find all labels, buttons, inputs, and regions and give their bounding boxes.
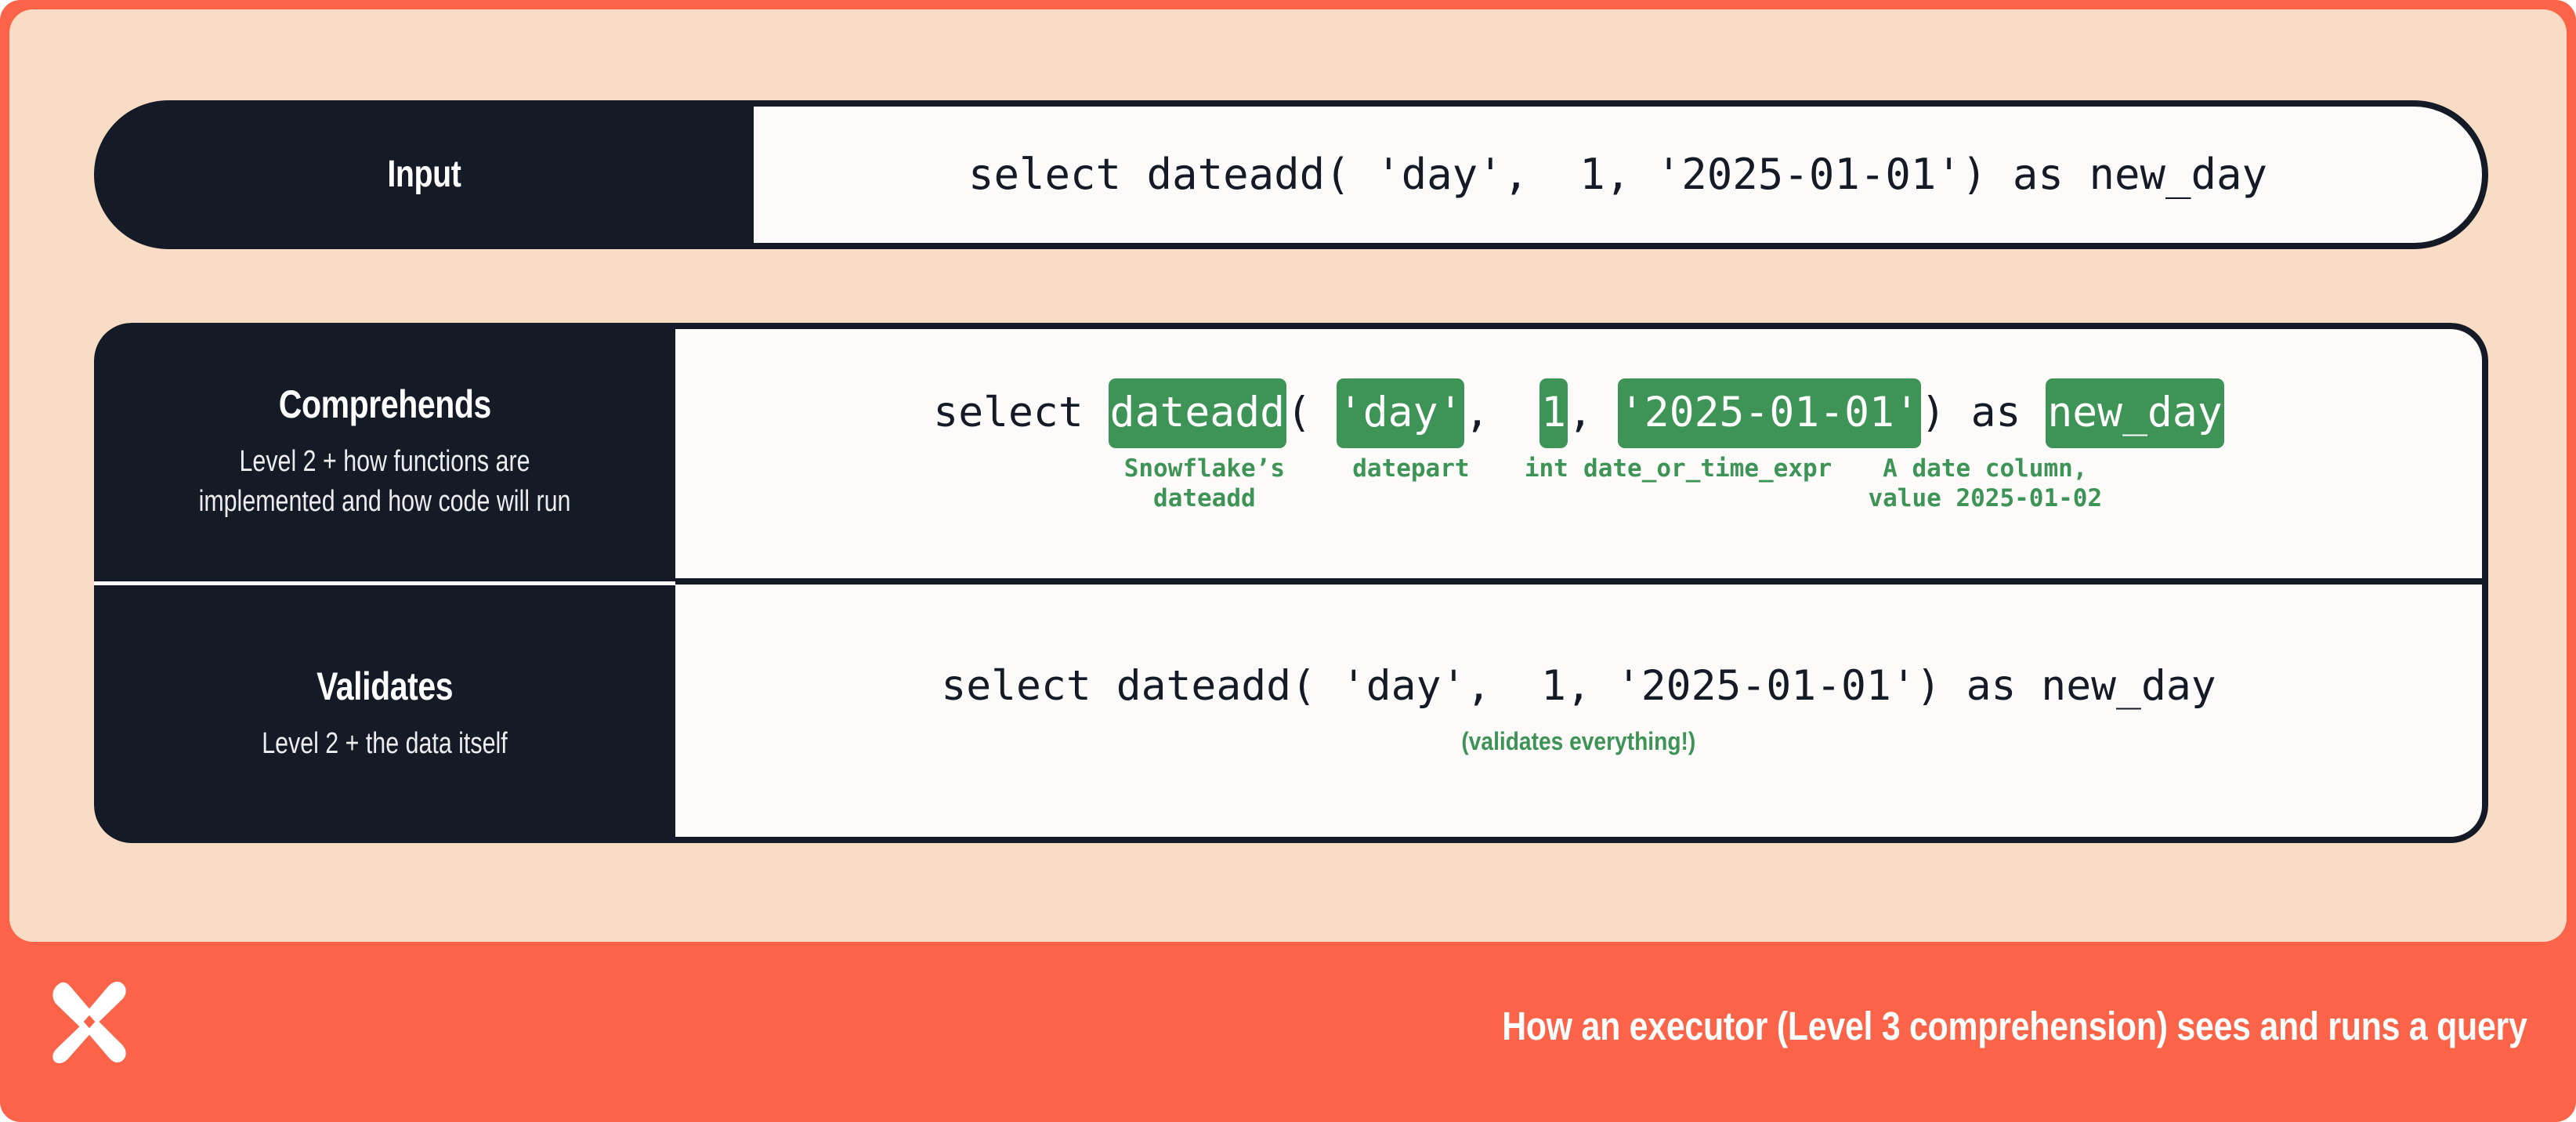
input-card: Input select dateadd( 'day', 1, '2025-01… [94,100,2488,249]
input-code-text: select dateadd( 'day', 1, '2025-01-01') … [968,154,2267,196]
comprehends-code-text: select dateadd( 'day', 1, '2025-01-01') … [933,392,2223,433]
comprehends-row-title: Comprehends [278,383,490,426]
code-token: ) as [1921,389,2046,436]
code-annotation: int [1525,454,1568,484]
poster-frame: Input select dateadd( 'day', 1, '2025-01… [0,0,2576,1122]
butterfly-x-logo-icon [49,979,130,1064]
comprehends-annotations: Snowflake’s dateadddatepartintdate_or_ti… [934,454,2224,516]
code-token: , [1568,389,1618,436]
validates-row-title: Validates [317,665,453,708]
code-token-highlighted: dateadd [1109,378,1286,448]
validates-row-subtitle: Level 2 + the data itself [262,724,508,763]
validates-label-cell: Validates Level 2 + the data itself [94,581,675,843]
comprehends-label-cell: Comprehends Level 2 + how functions are … [94,323,675,581]
code-token: select [933,389,1108,436]
code-annotation: A date column, value 2025-01-02 [1868,454,2102,515]
code-annotation: date_or_time_expr [1583,454,1832,484]
code-token-highlighted: 1 [1539,378,1568,448]
validates-note: (validates everything!) [1462,727,1696,756]
input-row-title: Input [387,154,461,196]
code-token-highlighted: 'day' [1337,378,1465,448]
code-annotation: datepart [1352,454,1469,484]
code-token-highlighted: new_day [2046,378,2223,448]
code-token-highlighted: '2025-01-01' [1618,378,1921,448]
comprehends-code-cell: select dateadd( 'day', 1, '2025-01-01') … [675,323,2488,581]
levels-card: Comprehends Level 2 + how functions are … [94,323,2488,843]
content-stage: Input select dateadd( 'day', 1, '2025-01… [9,9,2567,942]
comprehends-row-subtitle: Level 2 + how functions are implemented … [171,442,599,520]
footer-caption: How an executor (Level 3 comprehension) … [1503,1003,2527,1049]
input-label-cell: Input [94,100,754,249]
code-token: ( [1286,389,1337,436]
validates-row: Validates Level 2 + the data itself sele… [94,581,2488,843]
code-token: , [1464,389,1539,436]
comprehends-row: Comprehends Level 2 + how functions are … [94,323,2488,581]
validates-code-cell: select dateadd( 'day', 1, '2025-01-01') … [675,581,2488,843]
input-code-cell: select dateadd( 'day', 1, '2025-01-01') … [754,100,2488,249]
footer-bar: How an executor (Level 3 comprehension) … [0,942,2576,1122]
validates-code-text: select dateadd( 'day', 1, '2025-01-01') … [941,665,2216,707]
code-annotation: Snowflake’s dateadd [1124,454,1285,515]
